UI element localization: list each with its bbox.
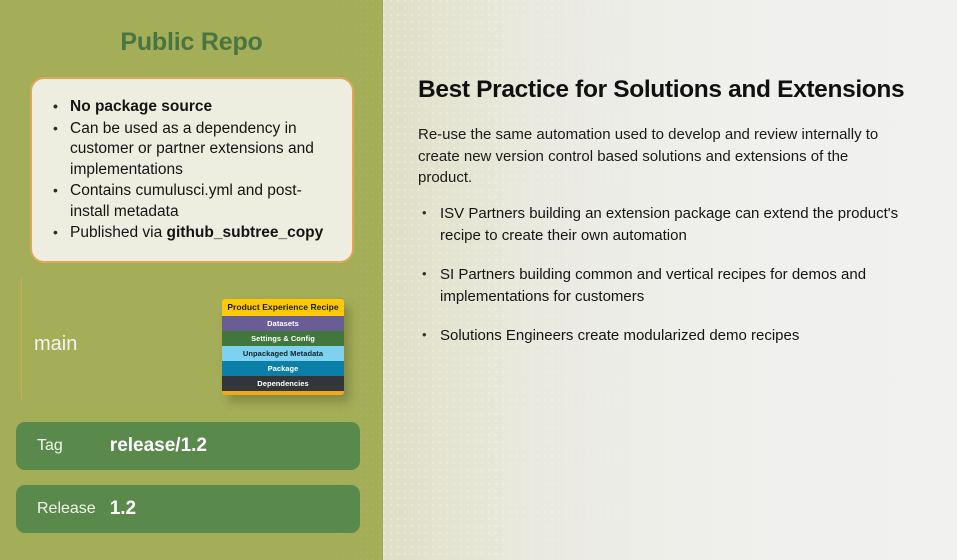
- best-practice-intro-paragraph: Re-use the same automation used to devel…: [418, 124, 888, 189]
- list-item: SI Partners building common and vertical…: [418, 264, 928, 307]
- tag-pill-label: Tag: [16, 437, 63, 455]
- list-item: ISV Partners building an extension packa…: [418, 203, 928, 246]
- public-repo-bullet-list: No package source Can be used as a depen…: [46, 97, 336, 244]
- public-repo-title: Public Repo: [0, 28, 383, 57]
- recipe-layer-package: Package: [222, 361, 344, 376]
- tag-pill: Tag release/1.2: [16, 422, 360, 470]
- best-practice-bullet-list: ISV Partners building an extension packa…: [418, 203, 928, 365]
- recipe-stack-header: Product Experience Recipe: [222, 299, 344, 316]
- recipe-layer-unpackaged-metadata: Unpackaged Metadata: [222, 346, 344, 361]
- product-experience-recipe-stack: Product Experience Recipe Datasets Setti…: [222, 299, 344, 395]
- recipe-layer-dependencies: Dependencies: [222, 376, 344, 391]
- list-item-prefix: Published via: [70, 224, 167, 241]
- release-pill-value: 1.2: [96, 498, 136, 520]
- public-repo-card: No package source Can be used as a depen…: [30, 77, 354, 263]
- list-item: Published via github_subtree_copy: [46, 223, 336, 244]
- tag-pill-value: release/1.2: [63, 435, 207, 457]
- list-item: Solutions Engineers create modularized d…: [418, 325, 928, 347]
- recipe-layer-settings-and-config: Settings & Config: [222, 331, 344, 346]
- recipe-layer-datasets: Datasets: [222, 316, 344, 331]
- branch-name-label: main: [34, 333, 77, 356]
- recipe-stack-footer-bar: [222, 391, 344, 395]
- release-pill-label: Release: [16, 500, 96, 518]
- list-item: No package source: [46, 97, 336, 118]
- branch-connector-line: [21, 278, 22, 399]
- list-item: Can be used as a dependency in customer …: [46, 119, 336, 181]
- best-practice-heading: Best Practice for Solutions and Extensio…: [418, 76, 938, 104]
- list-item-code: github_subtree_copy: [167, 224, 324, 241]
- release-pill: Release 1.2: [16, 485, 360, 533]
- list-item: Contains cumulusci.yml and post-install …: [46, 181, 336, 222]
- slide-canvas: Public Repo No package source Can be use…: [0, 0, 957, 560]
